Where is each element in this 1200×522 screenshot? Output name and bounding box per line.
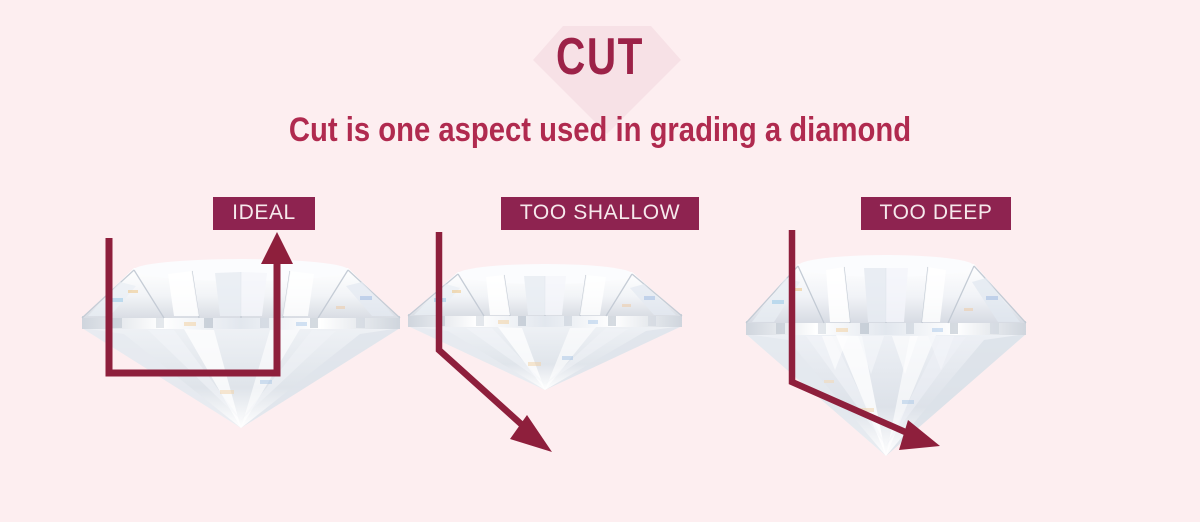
cut-grade-columns: IDEAL (0, 190, 1200, 522)
status-badge-too-deep[interactable]: TOO DEEP (861, 197, 1012, 230)
diagram-too-deep (736, 230, 1136, 520)
status-badge-ideal[interactable]: IDEAL (213, 197, 315, 230)
diamond-ideal-icon (82, 259, 400, 428)
status-badge-too-shallow[interactable]: TOO SHALLOW (501, 197, 699, 230)
page-subtitle: Cut is one aspect used in grading a diam… (84, 112, 1116, 149)
diamond-shallow-icon (408, 264, 682, 390)
header: CUT Cut is one aspect used in grading a … (0, 0, 1200, 175)
infographic-canvas: CUT Cut is one aspect used in grading a … (0, 0, 1200, 522)
cut-grade-too-deep: TOO DEEP (736, 190, 1136, 522)
page-title: CUT (132, 31, 1068, 83)
label-wrap-too-deep: TOO DEEP (736, 197, 1136, 230)
